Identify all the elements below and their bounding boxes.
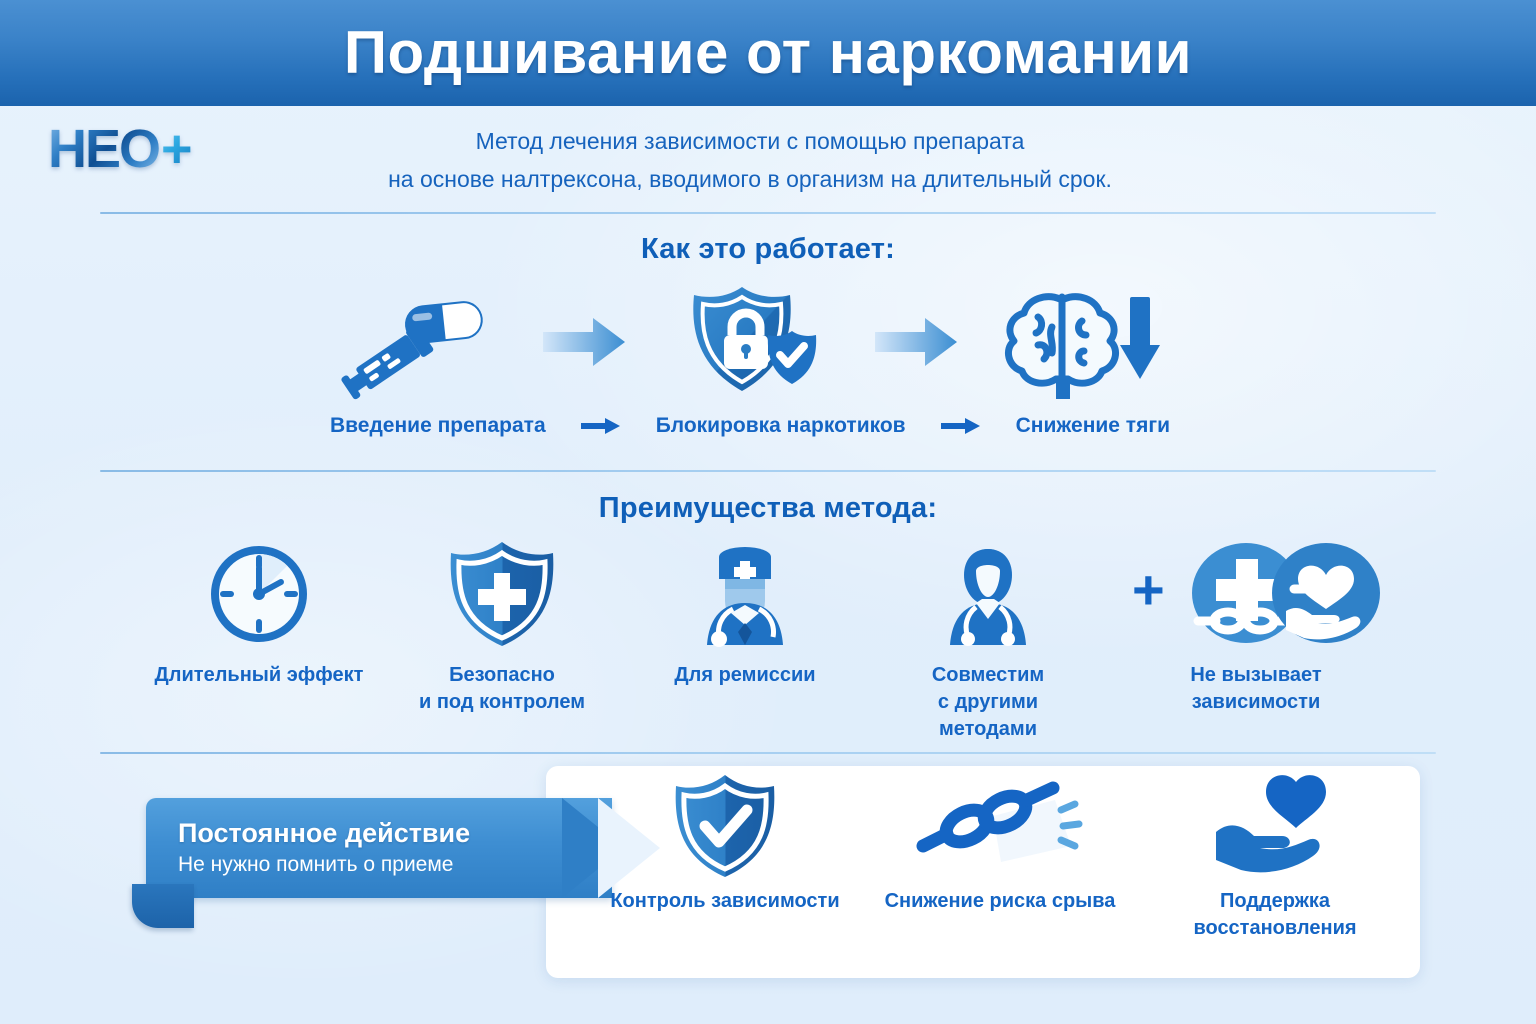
card-label-relapse: Снижение риска срыва [885, 888, 1116, 915]
clock-icon [207, 540, 311, 648]
how-it-works-flow [330, 282, 1170, 402]
card-label-support: Поддержка восстановления [1193, 888, 1356, 942]
flow-label-3: Снижение тяги [1016, 414, 1170, 438]
benefit-label-remission: Для ремиссии [674, 662, 815, 689]
subtitle: Метод лечения зависимости с помощью преп… [300, 122, 1200, 198]
divider-top [100, 212, 1436, 214]
benefit-item-long-effect: Длительный эффект [150, 540, 368, 689]
permanent-action-ribbon: Постоянное действие Не нужно помнить о п… [132, 798, 632, 928]
brand-logo: НЕО + [48, 118, 278, 180]
flow-label-2: Блокировка наркотиков [656, 414, 906, 438]
benefit-label-safe-line2: и под контролем [419, 689, 585, 716]
ribbon-text: Постоянное действие Не нужно помнить о п… [178, 816, 578, 880]
benefit-label-compatible-line1: Совместим [932, 662, 1044, 689]
benefit-label-compatible: Совместим с другими методами [932, 662, 1044, 743]
flow-arrow-1-icon [538, 313, 630, 371]
ribbon-title: Постоянное действие [178, 816, 578, 850]
shield-lock-icon [663, 283, 838, 401]
benefit-item-no-addiction: + Не вы [1122, 540, 1390, 716]
physician-icon [936, 540, 1040, 648]
header-banner: Подшивание от наркомании [0, 0, 1536, 106]
subtitle-line-1: Метод лечения зависимости с помощью преп… [300, 122, 1200, 160]
bottom-section: Постоянное действие Не нужно помнить о п… [0, 760, 1536, 990]
broken-chain-heart-hand-icon: + [1128, 540, 1384, 648]
bottom-card-items: Контроль зависимости [600, 774, 1400, 970]
subtitle-line-2: на основе налтрексона, вводимого в орган… [300, 160, 1200, 198]
benefit-label-compatible-line2: с другими [932, 689, 1044, 716]
how-it-works-labels: Введение препарата Блокировка наркотиков… [330, 406, 1170, 446]
card-item-relapse: Снижение риска срыва [875, 774, 1125, 915]
flow-arrow-2-icon [870, 313, 962, 371]
label-arrow-2-icon [938, 416, 984, 436]
benefit-label-no-addiction-line2: зависимости [1190, 689, 1321, 716]
doctor-icon [693, 540, 797, 648]
brand-name: НЕО [48, 122, 159, 176]
benefit-item-compatible: Совместим с другими методами [879, 540, 1097, 743]
ribbon-subtitle: Не нужно помнить о приеме [178, 850, 578, 880]
flow-label-1: Введение препарата [330, 414, 546, 438]
page-title: Подшивание от наркомании [344, 23, 1192, 83]
ribbon-fold [132, 884, 194, 928]
plus-sign-icon: + [1132, 558, 1165, 621]
benefit-label-compatible-line3: методами [932, 716, 1044, 743]
card-item-control: Контроль зависимости [600, 774, 850, 915]
benefit-item-safe: Безопасно и под контролем [393, 540, 611, 716]
infographic-page: Подшивание от наркомании НЕО + Метод леч… [0, 0, 1536, 1024]
benefits-heading: Преимущества метода: [0, 492, 1536, 525]
divider-bottom [100, 752, 1436, 754]
benefit-label-no-addiction-line1: Не вызывает [1190, 662, 1321, 689]
how-it-works-heading: Как это работает: [0, 233, 1536, 266]
benefits-list: Длительный эффект Безопасно [150, 540, 1390, 740]
divider-middle [100, 470, 1436, 472]
syringe-pill-icon [330, 283, 505, 401]
breaking-chain-icon [915, 774, 1085, 878]
shield-cross-icon [448, 540, 556, 648]
benefit-label-safe: Безопасно и под контролем [419, 662, 585, 716]
benefit-label-safe-line1: Безопасно [419, 662, 585, 689]
benefit-label-long-effect: Длительный эффект [155, 662, 364, 689]
label-arrow-1-icon [578, 416, 624, 436]
card-label-control: Контроль зависимости [610, 888, 839, 915]
benefit-label-no-addiction: Не вызывает зависимости [1190, 662, 1321, 716]
shield-check-icon [673, 774, 777, 878]
brand-plus-icon: + [161, 122, 193, 176]
card-label-support-line1: Поддержка [1193, 888, 1356, 915]
card-label-support-line2: восстановления [1193, 915, 1356, 942]
benefit-item-remission: Для ремиссии [636, 540, 854, 689]
heart-in-hand-icon [1210, 774, 1340, 878]
card-item-support: Поддержка восстановления [1150, 774, 1400, 942]
brain-down-arrow-icon [995, 283, 1170, 401]
